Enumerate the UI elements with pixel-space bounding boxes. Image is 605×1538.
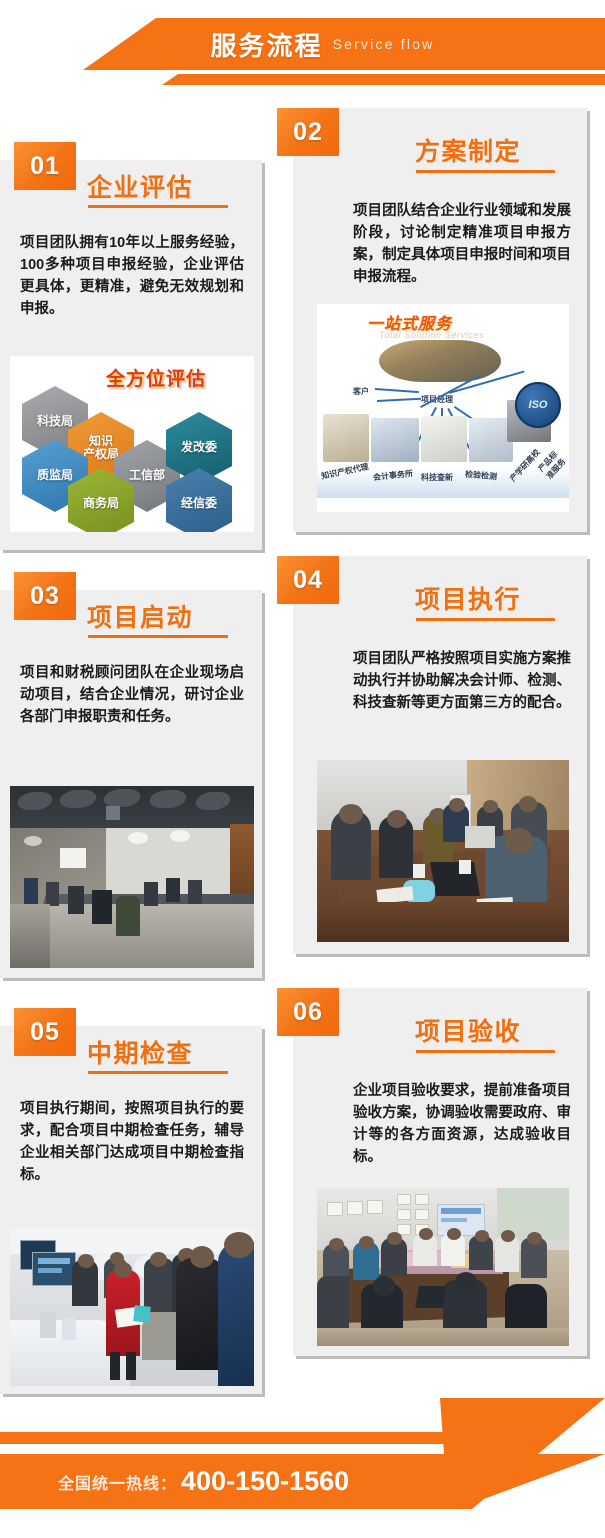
title-underline xyxy=(88,205,228,208)
hexagon-cluster-figure: 全方位评估 科技局 知识 产权局 质监局 工信部 发改委 商务局 经信委 xyxy=(10,356,254,532)
page-footer: 全国统一热线： 400-150-1560 xyxy=(0,1398,605,1538)
one-stop-subtitle: Total Solution Services xyxy=(379,330,484,340)
title-underline xyxy=(88,1071,228,1074)
page-header: 服务流程 Service flow xyxy=(0,0,605,108)
step-number-badge: 02 xyxy=(277,108,339,156)
step-number-badge: 03 xyxy=(14,572,76,620)
step-photo xyxy=(317,1188,569,1346)
step-number-badge: 06 xyxy=(277,988,339,1036)
step-title: 企业评估 xyxy=(87,168,193,204)
title-underline xyxy=(416,170,555,173)
step-description: 项目和财税顾问团队在企业现场启动项目，结合企业情况，研讨企业各部门申报职责和任务… xyxy=(20,662,244,728)
step-title: 项目验收 xyxy=(415,1012,521,1048)
node-thumb-accounting xyxy=(371,418,419,462)
label-client: 客户 xyxy=(353,386,369,397)
arrow-from-client xyxy=(377,398,421,402)
step-number-badge: 01 xyxy=(14,142,76,190)
step-title: 方案制定 xyxy=(415,132,521,168)
hotline-number[interactable]: 400-150-1560 xyxy=(181,1466,349,1497)
step-photo xyxy=(10,786,254,968)
step-card-04[interactable]: 04 项目执行 项目团队严格按照项目实施方案推动执行并协助解决会计师、检测、科技… xyxy=(293,556,587,954)
step-description: 项目团队结合企业行业领域和发展阶段，讨论制定精准项目申报方案，制定具体项目申报时… xyxy=(353,200,571,288)
hexagon-figure-title: 全方位评估 xyxy=(106,364,206,391)
page-subtitle: Service flow xyxy=(333,36,435,53)
step-description: 项目执行期间，按照项目执行的要求，配合项目中期检查任务，辅导企业相关部门达成项目… xyxy=(20,1098,244,1186)
step-description: 项目团队拥有10年以上服务经验，100多种项目申报经验，企业评估更具体，更精准，… xyxy=(20,232,244,320)
step-card-03[interactable]: 03 项目启动 项目和财税顾问团队在企业现场启动项目，结合企业情况，研讨企业各部… xyxy=(0,590,262,978)
iso-seal-icon: ISO xyxy=(515,382,561,428)
step-number-badge: 04 xyxy=(277,556,339,604)
step-card-06[interactable]: 06 项目验收 企业项目验收要求，提前准备项目验收方案，协调验收需要政府、审计等… xyxy=(293,988,587,1356)
step-title: 中期检查 xyxy=(87,1034,193,1070)
step-card-05[interactable]: 05 中期检查 项目执行期间，按照项目执行的要求，配合项目中期检查任务，辅导企业… xyxy=(0,1026,262,1394)
step-photo xyxy=(10,1228,254,1386)
meeting-thumb xyxy=(379,340,501,382)
hotline-group: 全国统一热线： 400-150-1560 xyxy=(0,1454,440,1509)
step-title: 项目执行 xyxy=(415,580,521,616)
step-description: 项目团队严格按照项目实施方案推动执行并协助解决会计师、检测、科技查新等更方面第三… xyxy=(353,648,571,714)
node-thumb-search xyxy=(421,416,467,462)
step-photo xyxy=(317,760,569,942)
header-title-group: 服务流程 Service flow xyxy=(0,18,605,70)
step-number-badge: 05 xyxy=(14,1008,76,1056)
step-card-02[interactable]: 02 方案制定 项目团队结合企业行业领域和发展阶段，讨论制定精准项目申报方案，制… xyxy=(293,108,587,532)
title-underline xyxy=(416,618,555,621)
title-underline xyxy=(88,635,228,638)
title-underline xyxy=(416,1050,555,1053)
node-thumb-ip xyxy=(323,414,369,462)
step-title: 项目启动 xyxy=(87,598,193,634)
header-accent-stripe xyxy=(0,74,605,85)
hotline-label: 全国统一热线： xyxy=(58,1470,177,1494)
step-description: 企业项目验收要求，提前准备项目验收方案，协调验收需要政府、审计等的各方面资源，达… xyxy=(353,1080,571,1168)
one-stop-service-figure: 一站式服务 Total Solution Services 客户 项目经理 IS… xyxy=(317,304,569,512)
page-title: 服务流程 xyxy=(211,26,323,63)
step-card-01[interactable]: 01 企业评估 项目团队拥有10年以上服务经验，100多种项目申报经验，企业评估… xyxy=(0,160,262,550)
arrow-to-client xyxy=(375,388,419,393)
node-label-search: 科技查新 xyxy=(421,472,453,483)
